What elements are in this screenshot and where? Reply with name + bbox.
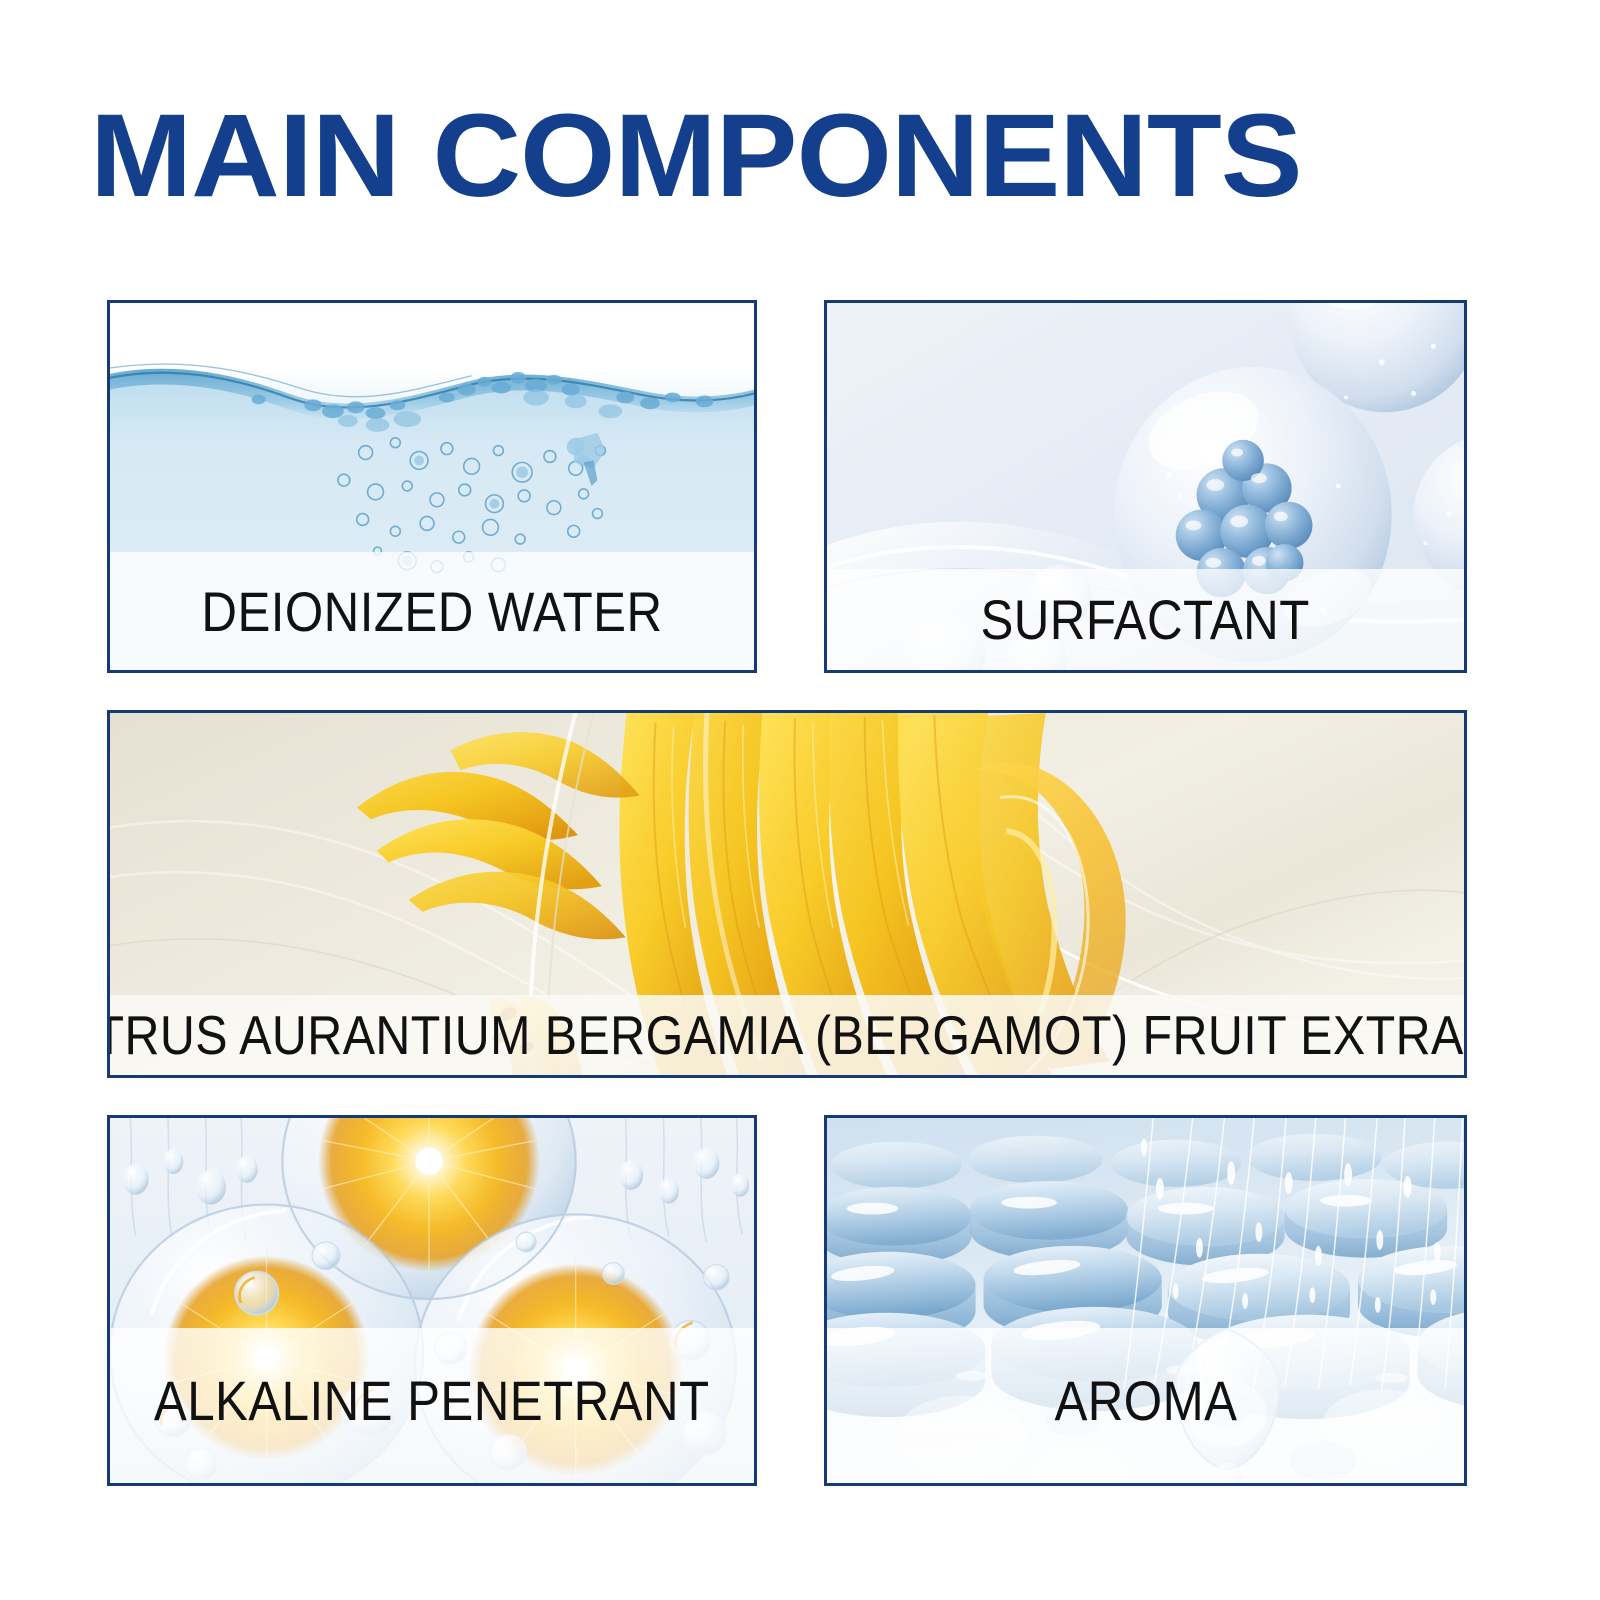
component-card-deionized-water[interactable]: DEIONIZED WATER <box>107 300 757 673</box>
component-card-alkaline-penetrant[interactable]: ALKALINE PENETRANT <box>107 1115 757 1486</box>
infographic-page: MAIN COMPONENTS <box>0 0 1600 1600</box>
component-card-surfactant[interactable]: SURFACTANT <box>824 300 1467 673</box>
component-card-bergamot-extract[interactable]: CITRUS AURANTIUM BERGAMIA (BERGAMOT) FRU… <box>107 710 1467 1078</box>
alkaline-penetrant-image <box>110 1118 754 1483</box>
surfactant-image <box>827 303 1464 670</box>
component-card-aroma[interactable]: AROMA <box>824 1115 1467 1486</box>
deionized-water-image <box>110 303 754 670</box>
aroma-image <box>827 1118 1464 1483</box>
page-title: MAIN COMPONENTS <box>90 96 1567 216</box>
bergamot-extract-image <box>110 713 1464 1075</box>
